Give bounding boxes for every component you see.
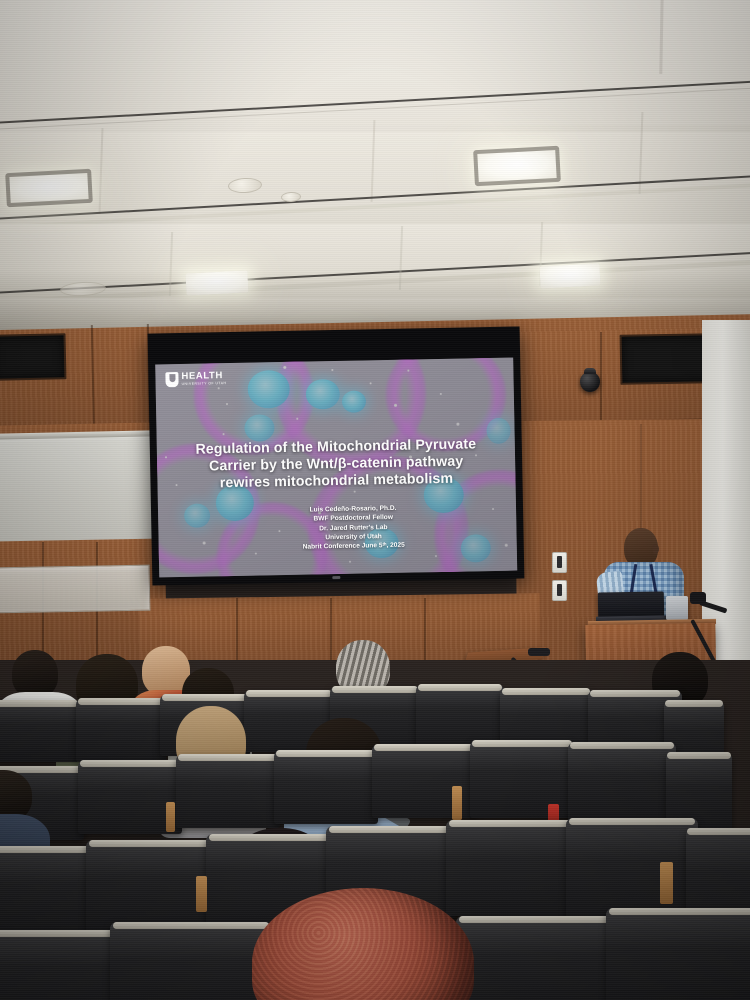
seat[interactable]: [0, 700, 80, 762]
block-u-icon: [165, 372, 178, 387]
seat[interactable]: [110, 922, 272, 1000]
wall-outlet-plate: [552, 552, 567, 573]
seat[interactable]: [274, 750, 378, 824]
armrest: [166, 802, 175, 832]
logo-secondary-text: UNIVERSITY OF UTAH: [182, 382, 227, 386]
seat[interactable]: [456, 916, 618, 1000]
projection-screen: HEALTH UNIVERSITY OF UTAH Regulation of …: [148, 326, 525, 585]
seat[interactable]: [76, 698, 166, 762]
slide-author-block: Luis Cedeño-Rosario, Ph.D. BWF Postdocto…: [258, 503, 449, 553]
whiteboard: [0, 432, 167, 548]
seat[interactable]: [606, 908, 750, 1000]
wall-switch-plate[interactable]: [552, 580, 567, 601]
seat[interactable]: [568, 742, 676, 826]
shelf-clamp: [528, 648, 550, 656]
screen-brand-mark: [332, 576, 340, 579]
armrest: [196, 876, 207, 912]
seat[interactable]: [566, 818, 698, 922]
lecture-hall-scene: HEALTH UNIVERSITY OF UTAH Regulation of …: [0, 0, 750, 1000]
seat[interactable]: [0, 930, 120, 1000]
university-logo: HEALTH UNIVERSITY OF UTAH: [165, 371, 226, 387]
presenter-ear: [652, 544, 659, 554]
microphone-head-icon: [690, 592, 706, 604]
podium-monitor: [666, 596, 688, 620]
seat[interactable]: [446, 820, 576, 916]
head: [12, 650, 58, 698]
seat[interactable]: [0, 846, 96, 938]
presenter-laptop[interactable]: [598, 591, 664, 618]
armrest: [660, 862, 673, 904]
slide-title: Regulation of the Mitochondrial Pyruvate…: [165, 436, 508, 493]
seat[interactable]: [176, 754, 280, 828]
ceiling-light: [9, 173, 88, 203]
wall-speaker-icon: [580, 372, 600, 392]
logo-primary-text: HEALTH: [181, 371, 226, 381]
seat[interactable]: [416, 684, 504, 746]
armrest: [452, 786, 462, 820]
acoustic-panel-left: [0, 333, 66, 381]
ceiling-light: [477, 150, 556, 182]
wall-panel-under-screen: [0, 565, 150, 614]
presentation-slide: HEALTH UNIVERSITY OF UTAH Regulation of …: [155, 358, 517, 578]
acoustic-panel-right: [620, 333, 715, 385]
